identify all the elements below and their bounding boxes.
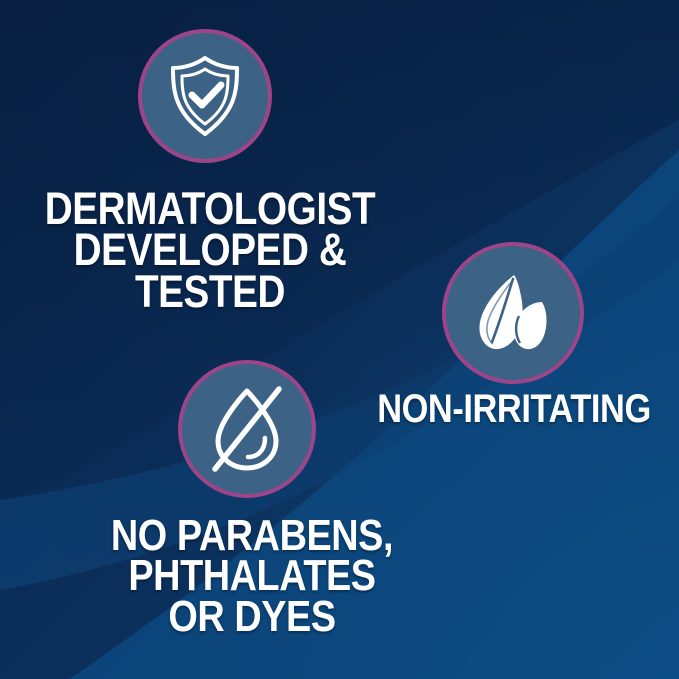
shield-check-icon bbox=[165, 54, 245, 138]
caption-dermatologist-developed-tested: DERMATOLOGIST DEVELOPED & TESTED bbox=[29, 188, 390, 312]
caption-non-irritating: NON-IRRITATING bbox=[371, 391, 657, 428]
badge-dermatologist-developed-tested bbox=[142, 33, 268, 159]
feather-icon bbox=[470, 272, 556, 354]
badge-non-irritating bbox=[446, 246, 580, 380]
badge-no-parabens-phthalates-dyes bbox=[182, 364, 312, 494]
no-droplet-icon bbox=[206, 385, 288, 473]
benefit-panel: DERMATOLOGIST DEVELOPED & TESTED NON-IRR… bbox=[0, 0, 679, 679]
caption-no-parabens-phthalates-dyes: NO PARABENS, PHTHALATES OR DYES bbox=[102, 516, 401, 637]
